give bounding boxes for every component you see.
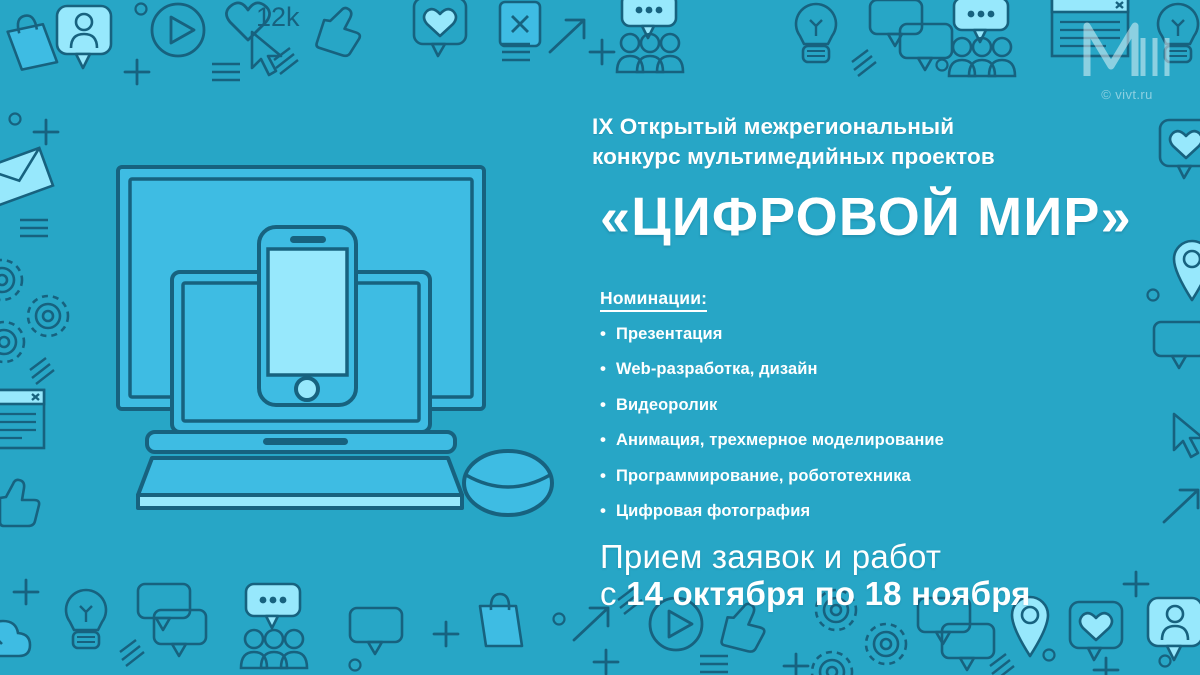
- monitor-laptop-phone-illustration: [100, 155, 560, 525]
- page-title: «ЦИФРОВОЙ МИР»: [600, 190, 1162, 244]
- keyboard-icon: [138, 458, 462, 508]
- deadline-dates: с 14 октября по 18 ноября: [600, 576, 1162, 613]
- decor-top-band: 12k: [5, 0, 1198, 84]
- watermark: © vivt.ru: [1072, 18, 1182, 108]
- list-item: Web-разработка, дизайн: [600, 361, 1162, 378]
- list-item: Цифровая фотография: [600, 503, 1162, 520]
- mouse-icon: [464, 451, 552, 515]
- list-item: Видеоролик: [600, 397, 1162, 414]
- list-item: Презентация: [600, 326, 1162, 343]
- vivt-logo-icon: [1077, 18, 1177, 80]
- deadline-block: Прием заявок и работ с 14 октября по 18 …: [600, 539, 1162, 613]
- nominations-heading: Номинации:: [600, 288, 707, 312]
- list-item: Программирование, робототехника: [600, 468, 1162, 485]
- nominations-block: Номинации: Презентация Web-разработка, д…: [600, 288, 1162, 520]
- smartphone-icon: [259, 227, 356, 405]
- decor-left-edge: [0, 114, 68, 527]
- poster-root: 12k: [0, 0, 1200, 675]
- eyebrow-text: IX Открытый межрегиональный конкурс муль…: [592, 112, 1162, 172]
- phone-speaker-icon: [290, 236, 326, 243]
- like-count-label: 12k: [256, 2, 300, 32]
- list-item: Анимация, трехмерное моделирование: [600, 432, 1162, 449]
- content-column: IX Открытый межрегиональный конкурс муль…: [592, 112, 1162, 613]
- deadline-range: 14 октября по 18 ноября: [626, 575, 1031, 612]
- phone-home-button-icon: [296, 378, 318, 400]
- deadline-prefix: с: [600, 575, 626, 612]
- nominations-list: Презентация Web-разработка, дизайн Видео…: [600, 326, 1162, 520]
- watermark-caption: © vivt.ru: [1072, 87, 1182, 102]
- deadline-intro: Прием заявок и работ: [600, 539, 1162, 576]
- laptop-trackpad-notch: [263, 438, 348, 445]
